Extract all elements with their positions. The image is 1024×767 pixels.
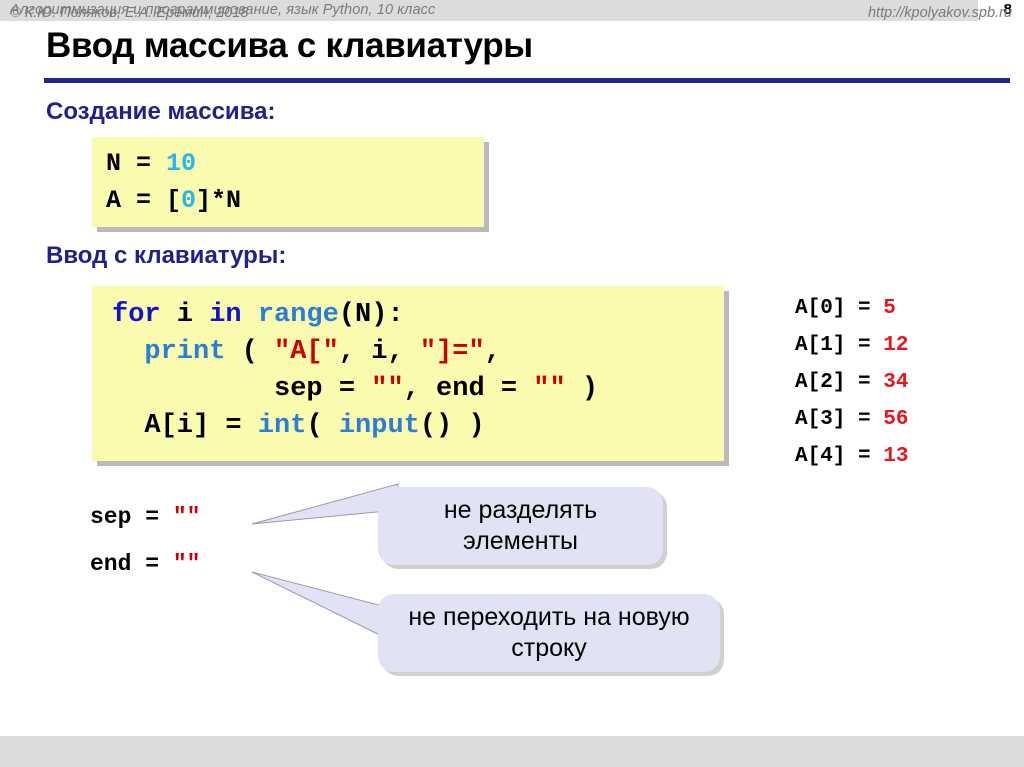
code-token: , xyxy=(485,337,501,367)
code-token: , i, xyxy=(339,337,420,367)
footer-bar xyxy=(0,736,1024,767)
output-label: A[2] = xyxy=(795,371,883,394)
callout-end-note: не переходить на новую строку xyxy=(378,594,720,672)
code-token: i xyxy=(161,300,210,330)
code-token: sep = xyxy=(274,374,371,404)
code-token: , end = xyxy=(404,374,534,404)
code-token: () ) xyxy=(420,411,485,441)
code-block-keyboard-input: for i in range(N): print ( "A[", i, "]="… xyxy=(92,286,724,461)
param-label-end: end = "" xyxy=(90,551,200,577)
sample-output-list: A[0] = 5 A[1] = 12 A[2] = 34 A[3] = 56 A… xyxy=(795,290,908,475)
output-value: 5 xyxy=(883,297,896,320)
code-token-number: 10 xyxy=(166,149,196,178)
code-token-number: 0 xyxy=(181,186,196,215)
list-item: A[0] = 5 xyxy=(795,290,908,327)
code-token: ( xyxy=(225,337,274,367)
section-label-create-array: Создание массива: xyxy=(46,98,275,126)
param-value: "" xyxy=(173,551,201,577)
footer-copyright: © К.Ю. Поляков, Е.А. Ерёмин, 2018 xyxy=(10,5,248,21)
code-token: A[i] = xyxy=(144,411,257,441)
code-indent xyxy=(112,411,144,441)
code-token-string: "" xyxy=(371,374,403,404)
title-underline-rule xyxy=(44,78,1010,83)
code-token: (N): xyxy=(339,300,404,330)
code-token-function: range xyxy=(242,300,339,330)
output-value: 13 xyxy=(883,445,908,468)
code-indent xyxy=(112,374,274,404)
code-token-string: "" xyxy=(533,374,565,404)
callout-sep-note: не разделять элементы xyxy=(378,487,663,565)
code-block-create-array: N = 10 A = [0]*N xyxy=(92,137,484,227)
code-token-function: print xyxy=(144,337,225,367)
code-indent xyxy=(112,337,144,367)
code-token-function: input xyxy=(339,411,420,441)
code-token: ( xyxy=(306,411,338,441)
output-label: A[4] = xyxy=(795,445,883,468)
output-value: 34 xyxy=(883,371,908,394)
output-label: A[1] = xyxy=(795,334,883,357)
param-label-sep: sep = "" xyxy=(90,504,200,530)
code-token-string: "]=" xyxy=(420,337,485,367)
param-value: "" xyxy=(173,504,201,530)
code-token-function: int xyxy=(258,411,307,441)
code-token-string: "A[" xyxy=(274,337,339,367)
code-token: A = [ xyxy=(106,186,181,215)
list-item: A[1] = 12 xyxy=(795,327,908,364)
code-token: N = xyxy=(106,149,166,178)
output-label: A[0] = xyxy=(795,297,883,320)
param-name: end = xyxy=(90,551,173,577)
list-item: A[3] = 56 xyxy=(795,401,908,438)
output-value: 12 xyxy=(883,334,908,357)
output-label: A[3] = xyxy=(795,408,883,431)
code-token: ]*N xyxy=(196,186,241,215)
code-token-keyword: in xyxy=(209,300,241,330)
param-name: sep = xyxy=(90,504,173,530)
footer-url[interactable]: http://kpolyakov.spb.ru xyxy=(868,5,1012,21)
section-label-keyboard-input: Ввод с клавиатуры: xyxy=(46,242,286,270)
code-token-keyword: for xyxy=(112,300,161,330)
page-title: Ввод массива с клавиатуры xyxy=(46,26,533,66)
slide-canvas: Алгоритмизация и программирование, язык … xyxy=(0,0,1024,767)
list-item: A[4] = 13 xyxy=(795,438,908,475)
output-value: 56 xyxy=(883,408,908,431)
code-token: ) xyxy=(566,374,598,404)
list-item: A[2] = 34 xyxy=(795,364,908,401)
